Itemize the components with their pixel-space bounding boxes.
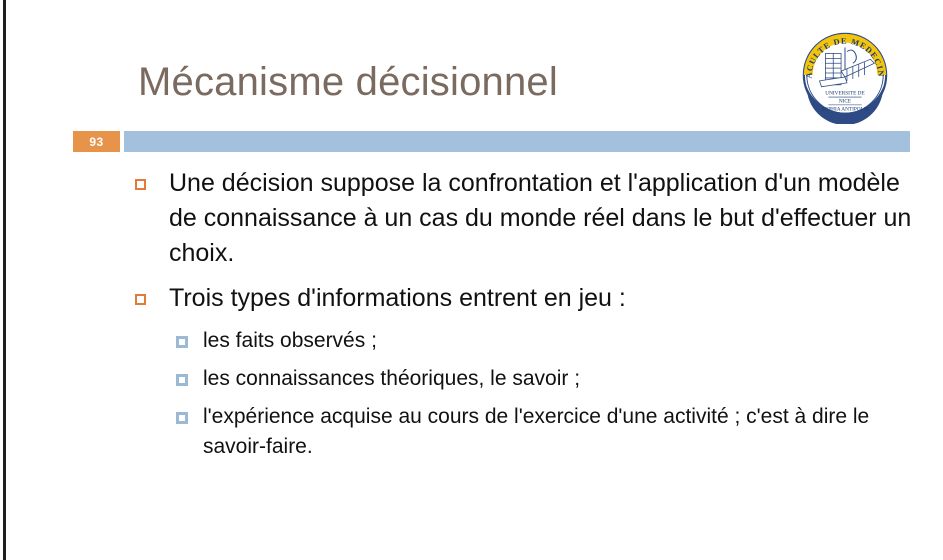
square-filled-bullet-icon bbox=[176, 336, 188, 348]
square-filled-bullet-icon bbox=[176, 374, 188, 386]
bullet-level1: Trois types d'informations entrent en je… bbox=[124, 281, 914, 316]
bullet-level2: les faits observés ; bbox=[124, 326, 914, 356]
bullet-level2-text: les connaissances théoriques, le savoir … bbox=[203, 364, 914, 394]
logo-line-2: NICE bbox=[839, 98, 851, 104]
bullet-level1: Une décision suppose la confrontation et… bbox=[124, 166, 914, 271]
faculte-de-medecine-logo: FACULTE DE MEDECINE bbox=[796, 26, 894, 124]
square-outline-bullet-icon bbox=[135, 294, 146, 305]
square-filled-bullet-icon bbox=[176, 412, 188, 424]
presentation-slide: Mécanisme décisionnel FACULTE DE MEDECIN… bbox=[0, 0, 943, 560]
slide-body: Une décision suppose la confrontation et… bbox=[124, 166, 914, 470]
bullet-level1-text: Trois types d'informations entrent en je… bbox=[169, 281, 914, 316]
logo-line-3: SOPHIA ANTIPOLIS bbox=[821, 106, 868, 112]
bullet-level2-text: les faits observés ; bbox=[203, 326, 914, 356]
page-title: Mécanisme décisionnel bbox=[138, 56, 758, 114]
logo-line-1: UNIVERSITE DE bbox=[825, 91, 864, 97]
bullet-level1-text: Une décision suppose la confrontation et… bbox=[169, 166, 914, 271]
header-accent-bar bbox=[124, 131, 910, 152]
square-outline-bullet-icon bbox=[135, 179, 146, 190]
bullet-level2: les connaissances théoriques, le savoir … bbox=[124, 364, 914, 394]
bullet-level2: l'expérience acquise au cours de l'exerc… bbox=[124, 402, 914, 462]
slide-left-edge-strip bbox=[3, 0, 6, 560]
bullet-level2-text: l'expérience acquise au cours de l'exerc… bbox=[203, 402, 914, 462]
bullet-sublist: les faits observés ; les connaissances t… bbox=[124, 326, 914, 462]
slide-number-badge: 93 bbox=[73, 131, 120, 152]
